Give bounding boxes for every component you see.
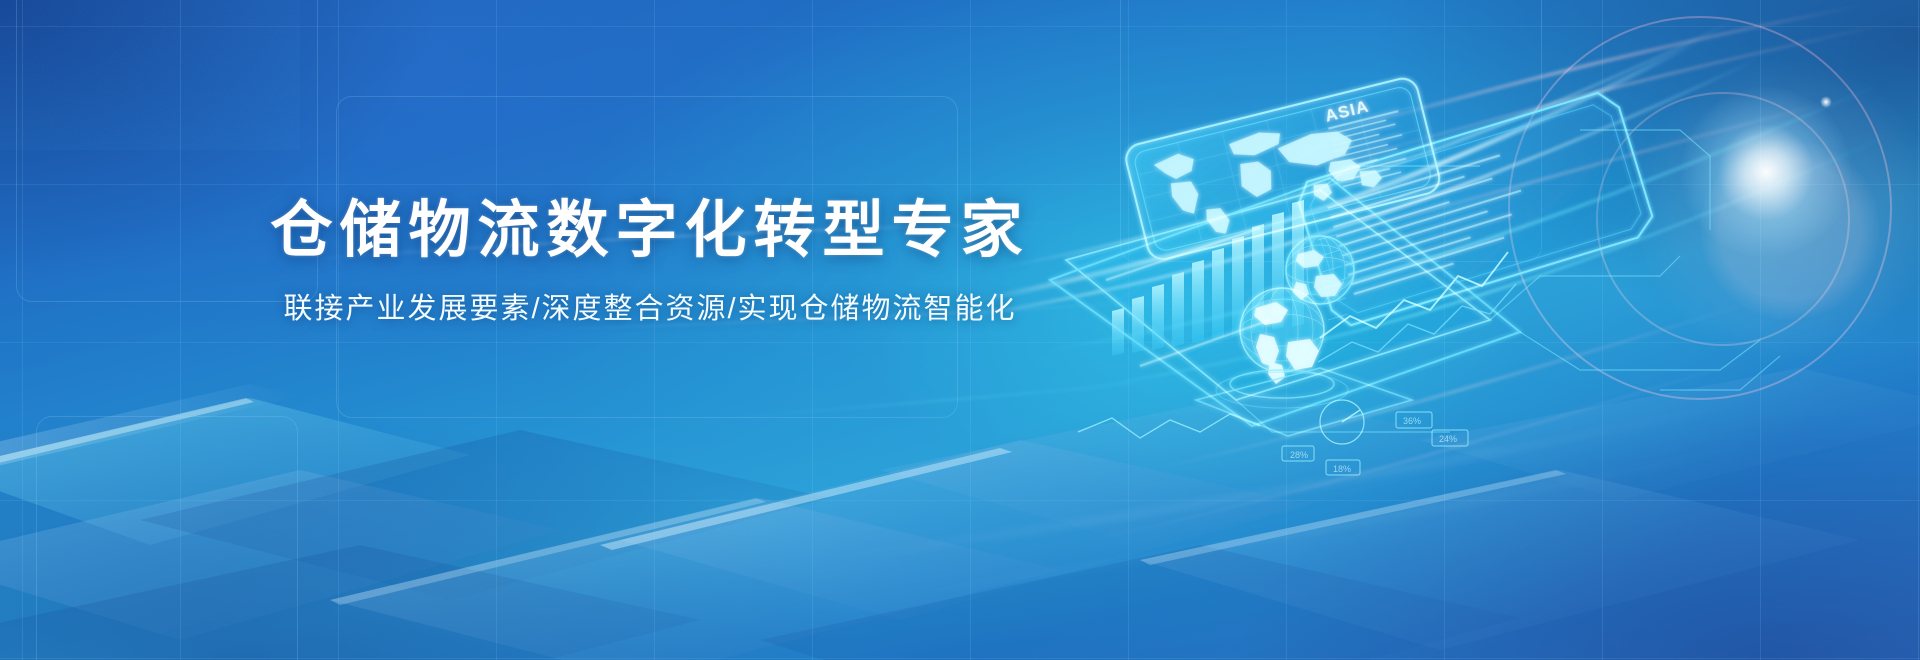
page-subtitle: 联接产业发展要素/深度整合资源/实现仓储物流智能化 (0, 291, 1300, 329)
grid-frame-d (36, 416, 298, 660)
hero-banner: 28% 18% 36% 24% (0, 0, 1920, 660)
page-title: 仓储物流数字化转型专家 (0, 196, 1300, 265)
film-grain-overlay (0, 0, 300, 150)
banner-text-block: 仓储物流数字化转型专家 联接产业发展要素/深度整合资源/实现仓储物流智能化 (0, 196, 1300, 329)
